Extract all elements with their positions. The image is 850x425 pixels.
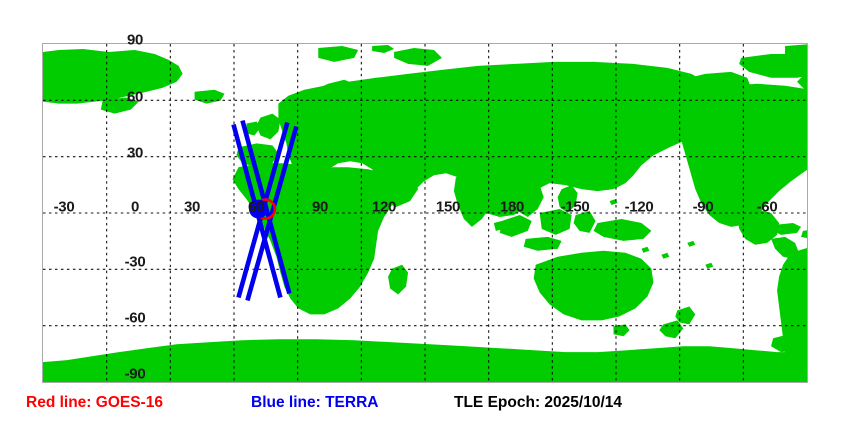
terra-position-marker	[249, 200, 268, 219]
legend-terra: Blue line: TERRA	[251, 392, 378, 414]
world-map-frame	[42, 43, 808, 383]
legend: Red line: GOES-16 Blue line: TERRA TLE E…	[0, 392, 850, 425]
world-map-canvas	[43, 44, 807, 382]
legend-goes16: Red line: GOES-16	[26, 392, 163, 414]
legend-tle-epoch: TLE Epoch: 2025/10/14	[454, 392, 622, 414]
satellite-track-map-page: 90 60 30 -30 -60 -90 -30 0 30 60 90 120 …	[0, 0, 850, 425]
